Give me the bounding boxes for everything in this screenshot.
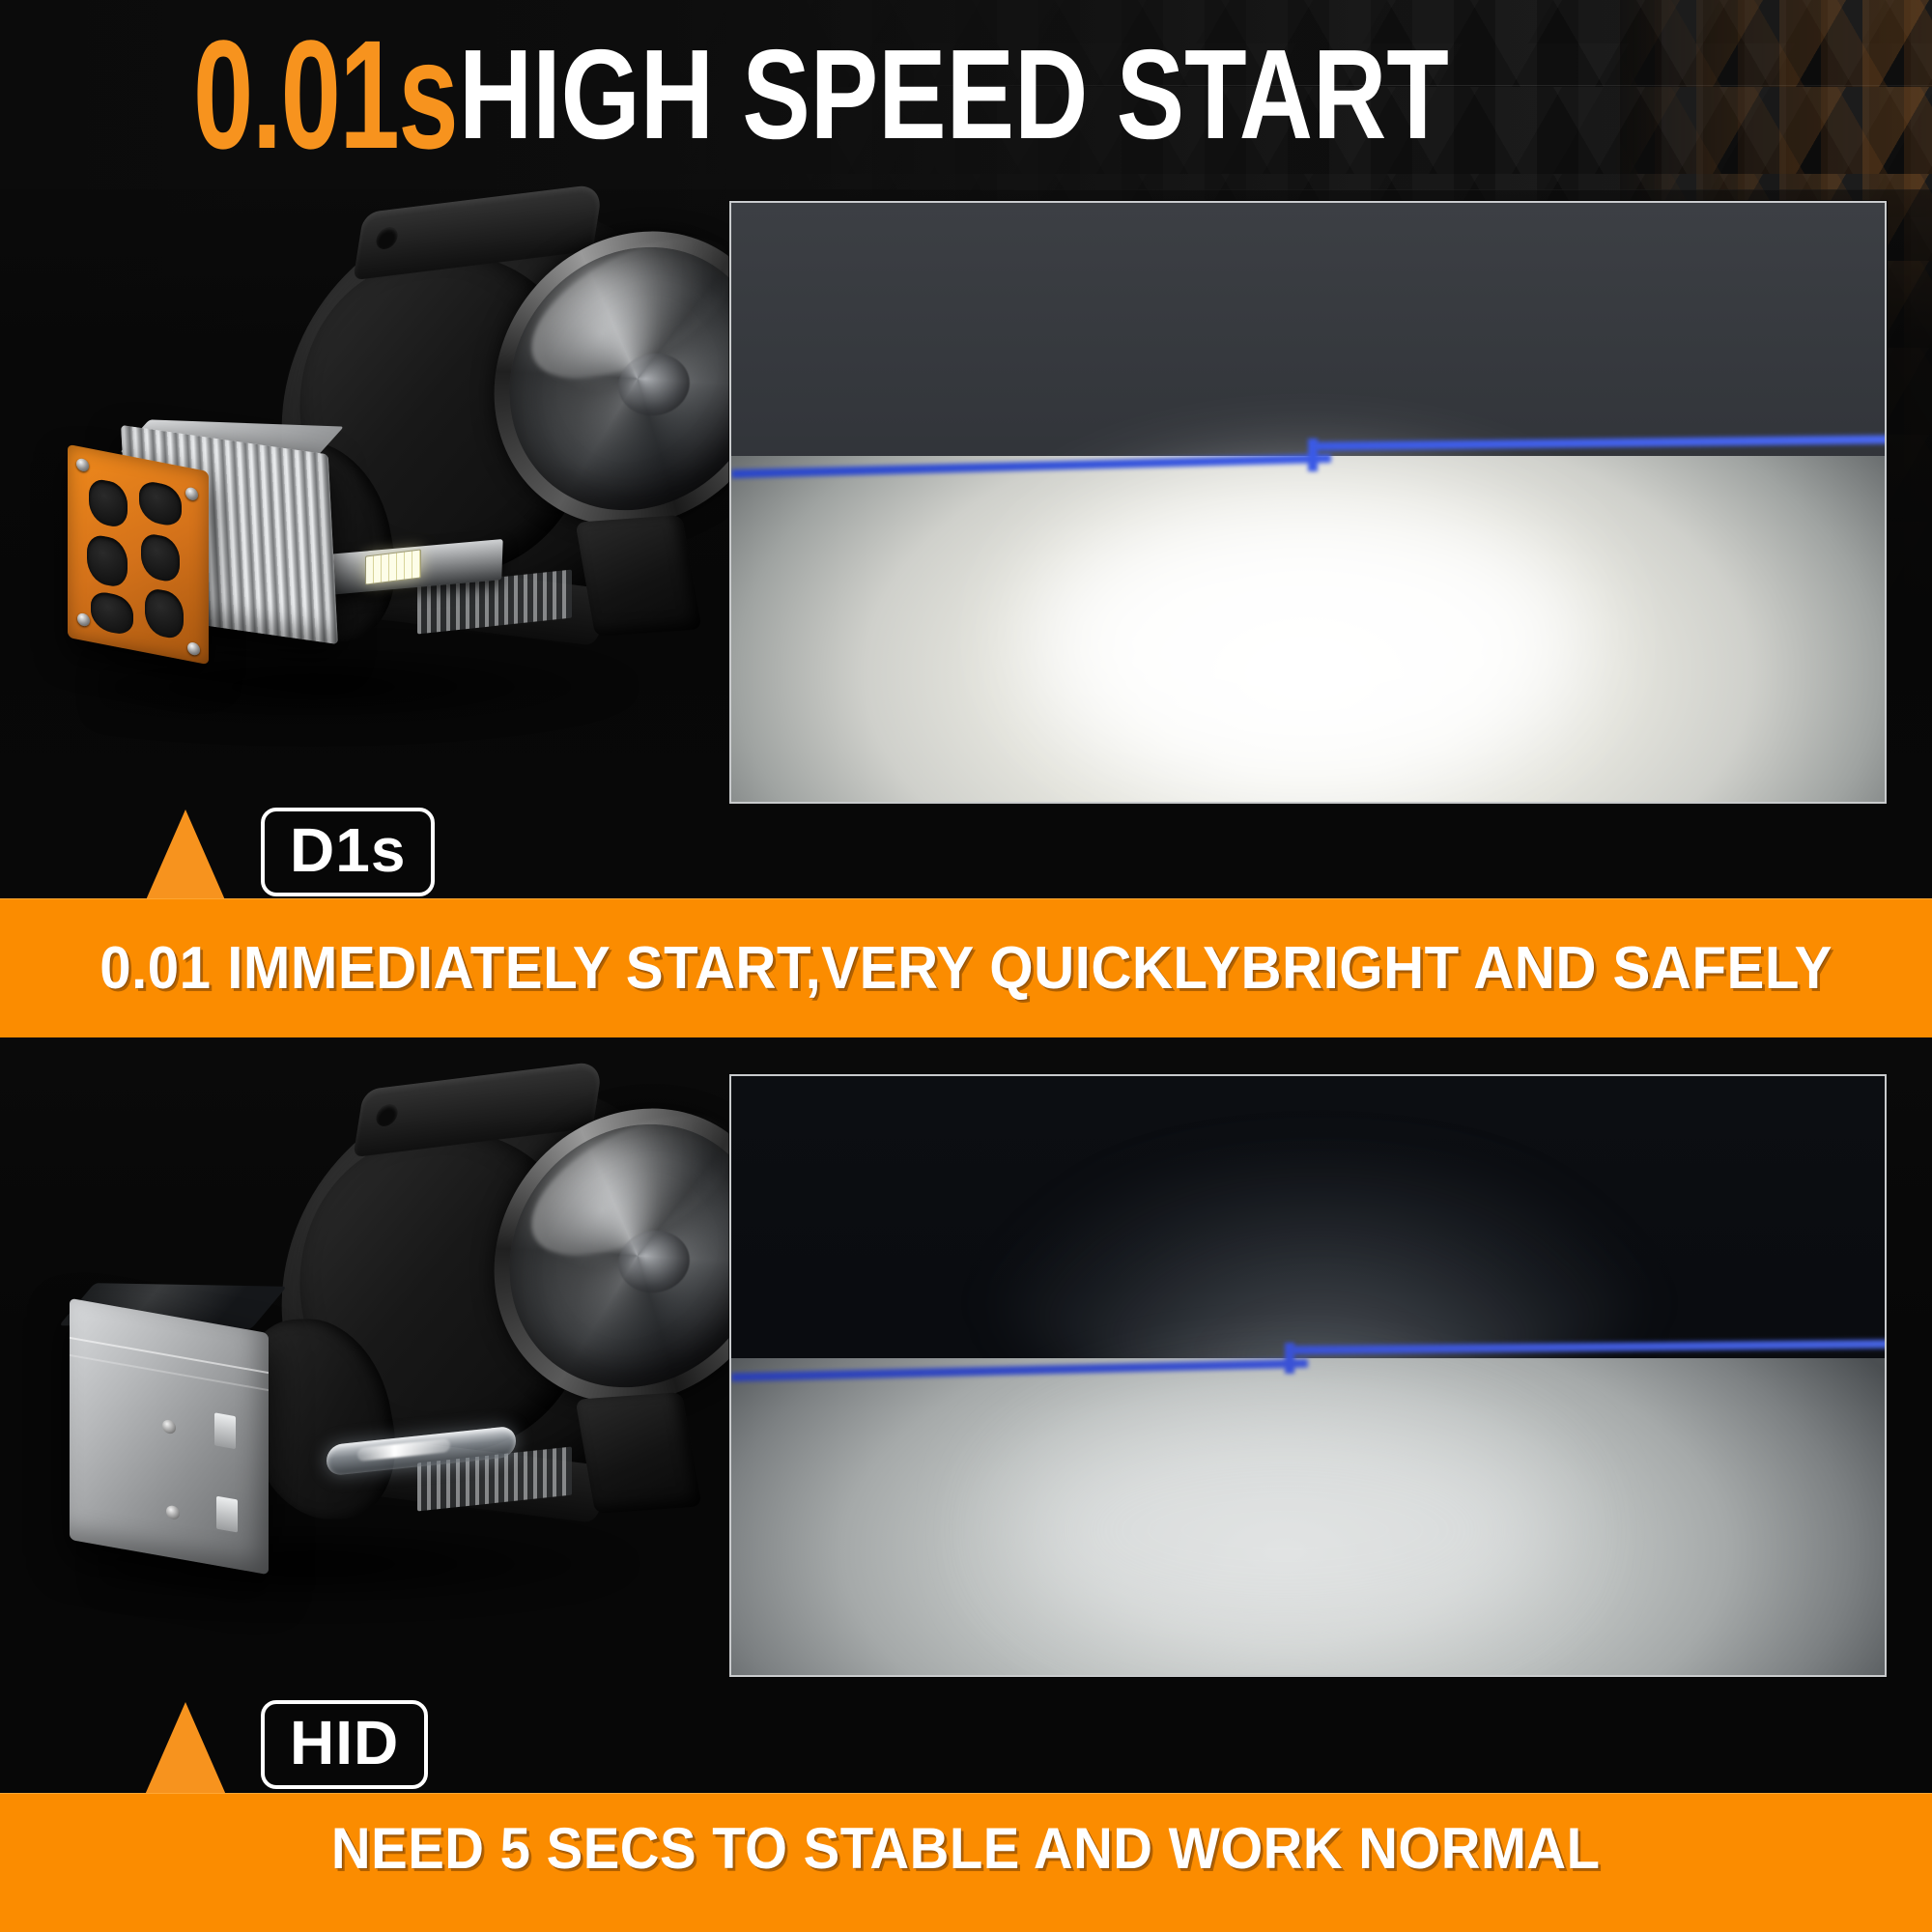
- banner-d1s: 0.01 IMMEDIATELY START,VERY QUICKLYBRIGH…: [0, 898, 1932, 1037]
- hid-ballast-block: [70, 1298, 269, 1575]
- badge-hid: HID: [261, 1700, 428, 1789]
- beam-hotspot: [1009, 1405, 1562, 1656]
- header-speed-value: 0.01s: [193, 17, 457, 172]
- ballast-seam-2: [70, 1354, 269, 1391]
- beam-hotspot: [1031, 493, 1584, 782]
- fan-vent-hole-4: [141, 532, 180, 584]
- beam-pattern-photo-d1s: [729, 201, 1887, 804]
- fan-vent-hole-5: [91, 589, 133, 637]
- banner-hid-text: NEED 5 SECS TO STABLE AND WORK NORMAL: [331, 1815, 1601, 1882]
- ballast-screw-top: [162, 1419, 176, 1435]
- fan-vent-hole-2: [139, 479, 182, 528]
- badge-row-hid: HID: [145, 1700, 428, 1795]
- orange-pointer-triangle-icon: [145, 810, 226, 902]
- fan-vent-hole-3: [87, 533, 128, 589]
- page-title: HIGH SPEED START: [459, 31, 1449, 158]
- ballast-slot-bottom: [216, 1496, 238, 1533]
- fan-vent-hole-6: [145, 586, 184, 640]
- banner-d1s-text: 0.01 IMMEDIATELY START,VERY QUICKLYBRIGH…: [99, 934, 1833, 1003]
- housing-side-bracket: [575, 515, 701, 637]
- fan-screw-top-left: [76, 458, 89, 473]
- beam-pattern-photo-hid: [729, 1074, 1887, 1677]
- fan-screw-bottom-right: [187, 641, 200, 657]
- product-comparison-page: 0.01s HIGH SPEED START: [0, 0, 1932, 1932]
- badge-d1s: D1s: [261, 808, 435, 896]
- ballast-seam-1: [70, 1337, 269, 1374]
- comparison-panel-d1s: [0, 189, 1932, 900]
- fan-vent-hole-1: [89, 477, 128, 529]
- orange-fan-cap: [68, 444, 209, 665]
- orange-pointer-triangle-icon: [145, 1702, 226, 1795]
- ballast-slot-top: [214, 1412, 236, 1449]
- banner-hid: NEED 5 SECS TO STABLE AND WORK NORMAL: [0, 1793, 1932, 1932]
- fan-screw-top-right: [185, 487, 198, 502]
- badge-row-d1s: D1s: [145, 808, 435, 902]
- product-photo-d1s: [39, 199, 773, 827]
- product-photo-hid: [39, 1076, 773, 1704]
- comparison-panel-hid: [0, 1037, 1932, 1795]
- ballast-screw-bottom: [166, 1504, 180, 1520]
- housing-side-bracket: [575, 1392, 701, 1514]
- page-header: 0.01s HIGH SPEED START: [0, 0, 1932, 189]
- fan-screw-bottom-left: [77, 612, 90, 628]
